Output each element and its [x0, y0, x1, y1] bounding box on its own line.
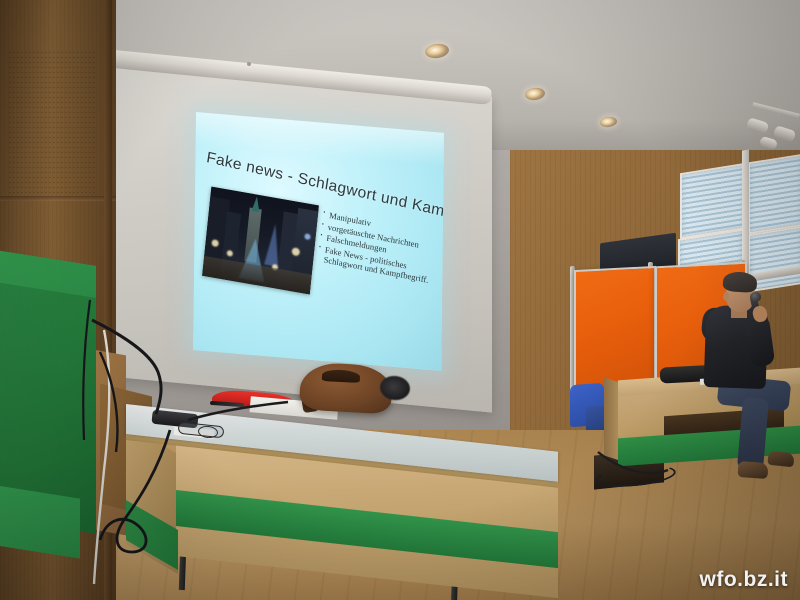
window-blinds [748, 154, 800, 235]
watermark: wfo.bz.it [700, 568, 788, 592]
pinboard-left [574, 266, 656, 392]
microphone-head-icon [750, 292, 761, 302]
roller-screw [247, 62, 251, 66]
projected-slide: Fake news - Schlagwort und Kampfbegriff … [193, 112, 444, 371]
green-block-lower [0, 485, 80, 558]
person-shoe [767, 451, 794, 468]
person-shoe [737, 461, 768, 479]
window-blinds [680, 163, 746, 239]
photo-church-spire [251, 196, 260, 212]
person-ear [723, 292, 729, 301]
slide-photo [202, 187, 319, 295]
photo-scene: Fake news - Schlagwort und Kampfbegriff … [0, 0, 800, 600]
